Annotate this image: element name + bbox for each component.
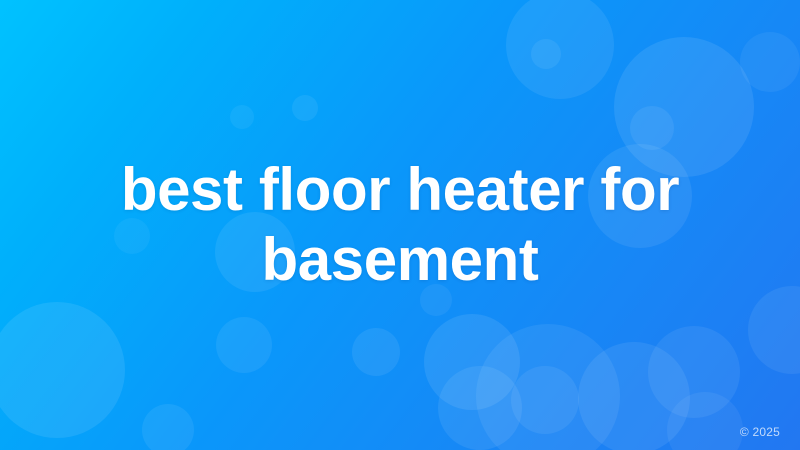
page-title: best floor heater for basement bbox=[90, 155, 710, 294]
copyright-notice: © 2025 bbox=[740, 426, 780, 438]
headline-block: best floor heater for basement bbox=[0, 0, 800, 450]
promo-banner: best floor heater for basement © 2025 bbox=[0, 0, 800, 450]
